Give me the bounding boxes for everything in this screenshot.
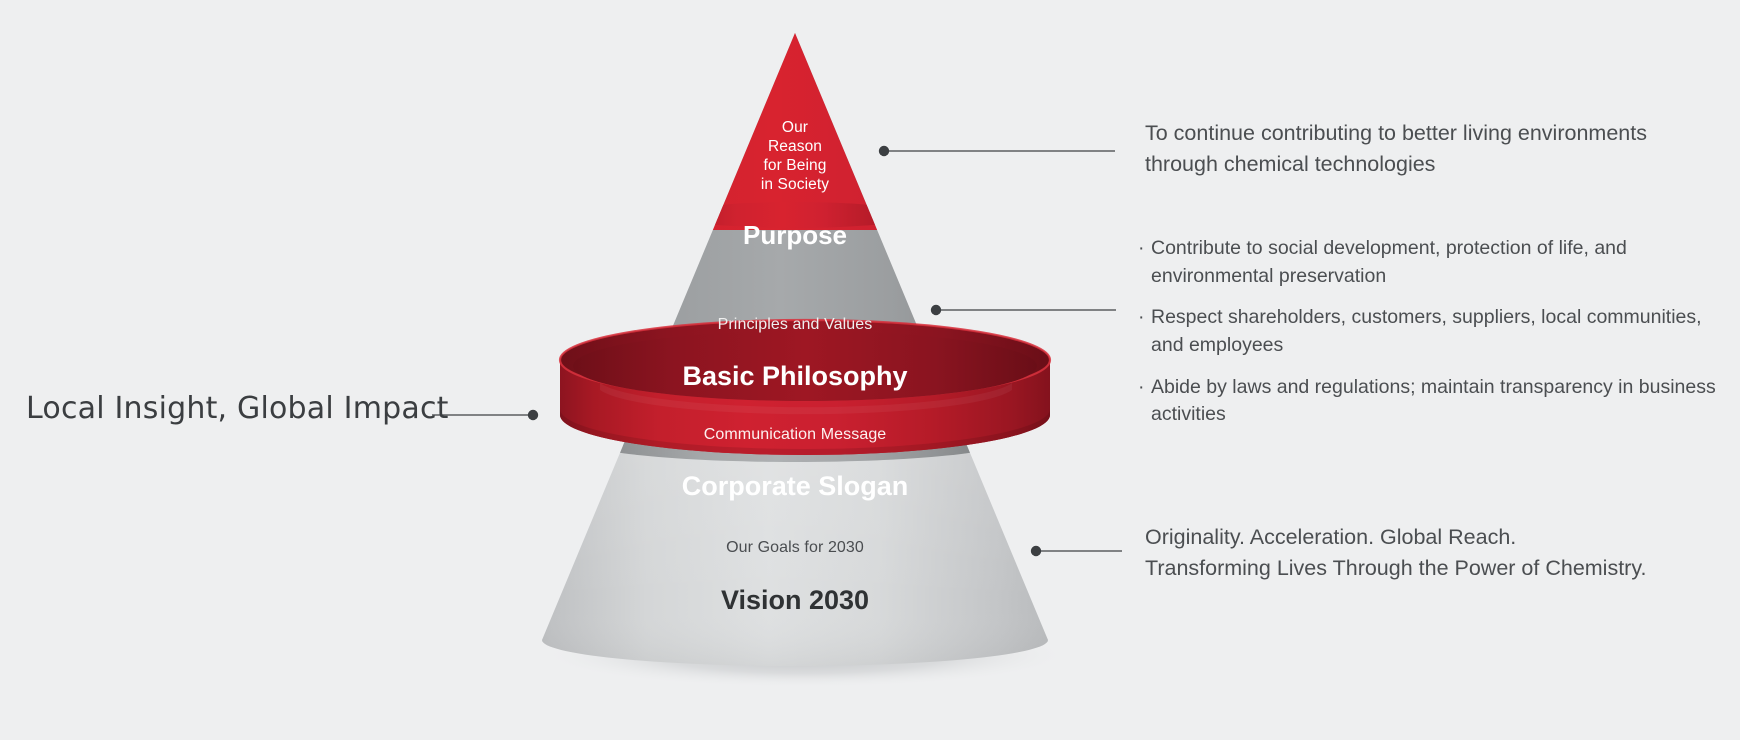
bullet-marker-icon: · bbox=[1138, 374, 1151, 429]
description-philosophy-bullets: · Contribute to social development, prot… bbox=[1138, 235, 1718, 429]
diagram-canvas: Our Reason for Being in Society Purpose … bbox=[0, 0, 1740, 740]
bullet-marker-icon: · bbox=[1138, 235, 1151, 290]
bullet-item: · Contribute to social development, prot… bbox=[1138, 235, 1718, 290]
leader-line-vision bbox=[1031, 546, 1122, 556]
description-vision: Originality. Acceleration. Global Reach.… bbox=[1145, 522, 1720, 584]
left-callout-label: Local Insight, Global Impact bbox=[26, 391, 449, 426]
vision-desc-line-1: Originality. Acceleration. Global Reach. bbox=[1145, 522, 1720, 553]
bullet-item: · Abide by laws and regulations; maintai… bbox=[1138, 374, 1718, 429]
bullet-marker-icon: · bbox=[1138, 304, 1151, 359]
purpose-base-ellipse bbox=[675, 202, 915, 228]
leader-line-purpose bbox=[879, 146, 1115, 156]
description-purpose: To continue contributing to better livin… bbox=[1145, 118, 1720, 180]
slogan-ring bbox=[560, 318, 1050, 455]
vision-desc-line-2: Transforming Lives Through the Power of … bbox=[1145, 553, 1720, 584]
ring-rim-inner-edge bbox=[573, 331, 1037, 401]
bullet-text: Abide by laws and regulations; maintain … bbox=[1151, 374, 1718, 429]
cone-section-purpose bbox=[500, 0, 1110, 230]
bullet-text: Contribute to social development, protec… bbox=[1151, 235, 1718, 290]
leader-line-philosophy bbox=[931, 305, 1116, 315]
bullet-item: · Respect shareholders, customers, suppl… bbox=[1138, 304, 1718, 359]
bullet-text: Respect shareholders, customers, supplie… bbox=[1151, 304, 1718, 359]
